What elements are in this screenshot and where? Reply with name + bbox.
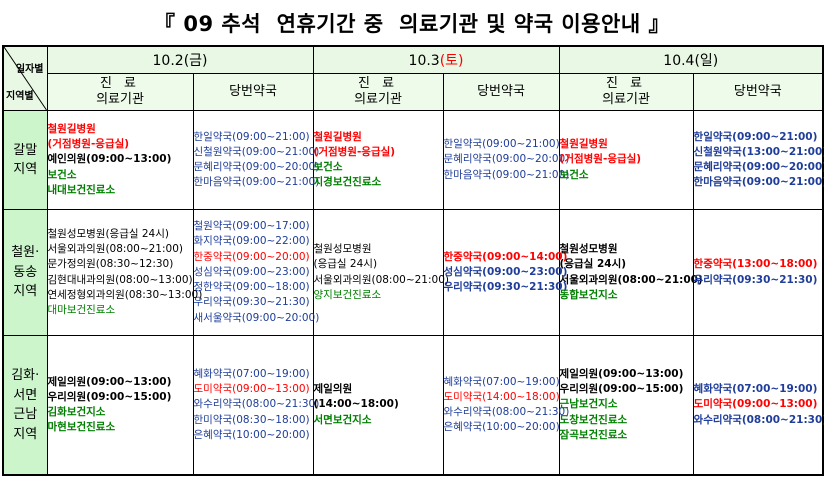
pharmacy-list-cell: 혜화약국(07:00~19:00)도미약국(09:00~13:00)와수리약국(… — [693, 336, 823, 476]
hospital-entry: 내대보건진료소 — [48, 183, 193, 198]
pharmacy-list-cell: 혜화약국(07:00~19:00)도미약국(09:00~13:00)와수리약국(… — [193, 336, 313, 476]
header-hospital-3-line1: 진 료 — [560, 76, 693, 92]
pharmacy-entry: 와수리약국(08:00~21:30) — [694, 413, 823, 428]
pharmacy-entry: 도미약국(09:00~13:00) — [694, 397, 823, 412]
pharmacy-entry: 성심약국(09:00~23:00) — [444, 265, 559, 280]
pharmacy-entry: 한마음약국(09:00~21:00) — [194, 175, 313, 190]
region-label-line: 동송 — [4, 263, 47, 283]
hospital-entry: 마현보건진료소 — [48, 420, 193, 435]
pharmacy-list-cell: 한중약국(09:00~14:00)성심약국(09:00~23:00)우리약국(0… — [443, 210, 559, 336]
table-row: 갈말지역철원길병원(거점병원-응급실)예인의원(09:00~13:00)보건소내… — [3, 111, 823, 210]
hospital-entry: 동합보건지소 — [560, 288, 693, 303]
hospital-list-cell: 철원길병원(거점병원-응급실)예인의원(09:00~13:00)보건소내대보건진… — [47, 111, 193, 210]
pharmacy-entry: 문혜리약국(09:00~20:00) — [194, 160, 313, 175]
pharmacy-entry: 정한약국(09:00~18:00) — [194, 280, 313, 295]
header-row-dates: 일자별 지역별 10.2(금) 10.3(토) 10.4(일) — [3, 46, 823, 74]
header-date-2: 10.3(토) — [313, 46, 559, 74]
schedule-table: 일자별 지역별 10.2(금) 10.3(토) 10.4(일) 진 료 의료기관… — [2, 45, 824, 476]
hospital-entry: 김화보건지소 — [48, 405, 193, 420]
pharmacy-entry: 도미약국(09:00~13:00) — [194, 382, 313, 397]
hospital-list-cell: 철원성모병원(응급실 24시)서울외과의원(08:00~21:00)동합보건지소 — [559, 210, 693, 336]
hospital-list-cell: 철원성모병원(응급실 24시)서울외과의원(08:00~21:00)양지보건진료… — [313, 210, 443, 336]
hospital-list-cell: 철원성모병원(응급실 24시)서울외과의원(08:00~21:00)문가정의원(… — [47, 210, 193, 336]
hospital-list-cell: 철원길병원(거점병원-응급실)보건소 — [559, 111, 693, 210]
hospital-entry: 문가정의원(08:30~12:30) — [48, 257, 193, 272]
region-label-line: 지역 — [4, 425, 47, 445]
table-row: 철원·동송지역철원성모병원(응급실 24시)서울외과의원(08:00~21:00… — [3, 210, 823, 336]
table-body: 갈말지역철원길병원(거점병원-응급실)예인의원(09:00~13:00)보건소내… — [3, 111, 823, 476]
hospital-entry: 서울외과의원(08:00~21:00) — [560, 273, 693, 288]
region-label-line: 철원· — [4, 243, 47, 263]
page-root: 『 09 추석 연휴기간 중 의료기관 및 약국 이용안내 』 일자별 지역별 — [0, 0, 824, 497]
hospital-entry: 우리의원(09:00~15:00) — [560, 382, 693, 397]
header-date-2-prefix: 10.3 — [409, 53, 440, 69]
hospital-entry: 도창보건진료소 — [560, 413, 693, 428]
pharmacy-entry: 한마음약국(09:00~21:00) — [694, 175, 823, 190]
header-hospital-3: 진 료 의료기관 — [559, 74, 693, 111]
pharmacy-entry: 혜화약국(07:00~19:00) — [444, 375, 559, 390]
pharmacy-list-cell: 한일약국(09:00~21:00)신철원약국(09:00~21:00)문혜리약국… — [193, 111, 313, 210]
pharmacy-entry: 혜화약국(07:00~19:00) — [194, 367, 313, 382]
hospital-entry: 제일의원(09:00~13:00) — [560, 367, 693, 382]
hospital-entry: (거점병원-응급실) — [48, 137, 193, 152]
pharmacy-entry: 우리약국(09:30~21:30) — [194, 295, 313, 310]
pharmacy-entry: 한중약국(13:00~18:00) — [694, 257, 823, 272]
pharmacy-entry: 문혜리약국(09:00~20:00) — [694, 160, 823, 175]
pharmacy-entry: 성심약국(09:00~23:00) — [194, 265, 313, 280]
region-label-cell: 철원·동송지역 — [3, 210, 47, 336]
hospital-entry: (응급실 24시) — [560, 257, 693, 272]
pharmacy-entry: 와수리약국(08:00~21:30) — [444, 405, 559, 420]
hospital-list-cell: 제일의원(09:00~13:00)우리의원(09:00~15:00)근남보건지소… — [559, 336, 693, 476]
hospital-entry: 철원길병원 — [48, 122, 193, 137]
hospital-list-cell: 제일의원(09:00~13:00)우리의원(09:00~15:00)김화보건지소… — [47, 336, 193, 476]
header-hospital-1-line2: 의료기관 — [48, 92, 193, 108]
pharmacy-entry: 신철원약국(09:00~21:00) — [194, 145, 313, 160]
region-label-line: 지역 — [4, 282, 47, 302]
hospital-entry: 우리의원(09:00~15:00) — [48, 390, 193, 405]
hospital-entry: 철원성모병원 — [560, 242, 693, 257]
pharmacy-list-cell: 한일약국(09:00~21:00)문혜리약국(09:00~20:00)한마음약국… — [443, 111, 559, 210]
region-label-line: 서면 — [4, 386, 47, 406]
hospital-entry: 근남보건지소 — [560, 397, 693, 412]
pharmacy-entry: 한일약국(09:00~21:00) — [444, 137, 559, 152]
hospital-entry: 연세정형외과의원(08:30~13:00) — [48, 288, 193, 303]
hospital-entry: 서면보건지소 — [314, 413, 443, 428]
hospital-entry: 제일의원(09:00~13:00) — [48, 375, 193, 390]
pharmacy-entry: 은혜약국(10:00~20:00) — [444, 420, 559, 435]
pharmacy-entry: 한중약국(09:00~14:00) — [444, 250, 559, 265]
region-label-cell: 김화·서면근남지역 — [3, 336, 47, 476]
hospital-entry: 보건소 — [48, 168, 193, 183]
hospital-entry: 보건소 — [314, 160, 443, 175]
region-label-cell: 갈말지역 — [3, 111, 47, 210]
pharmacy-entry: 은혜약국(10:00~20:00) — [194, 428, 313, 443]
header-date-2-day: (토) — [440, 53, 464, 69]
table-header: 일자별 지역별 10.2(금) 10.3(토) 10.4(일) 진 료 의료기관… — [3, 46, 823, 111]
region-label-line: 김화· — [4, 366, 47, 386]
hospital-entry: (14:00~18:00) — [314, 397, 443, 412]
pharmacy-entry: 문혜리약국(09:00~20:00) — [444, 152, 559, 167]
pharmacy-entry: 화지약국(09:00~22:00) — [194, 234, 313, 249]
hospital-entry: 철원성모병원 — [314, 242, 443, 257]
pharmacy-list-cell: 한중약국(13:00~18:00)우리약국(09:30~21:30) — [693, 210, 823, 336]
page-title: 『 09 추석 연휴기간 중 의료기관 및 약국 이용안내 』 — [154, 8, 670, 38]
hospital-entry: (거점병원-응급실) — [314, 145, 443, 160]
hospital-entry: (거점병원-응급실) — [560, 152, 693, 167]
pharmacy-list-cell: 한일약국(09:00~21:00)신철원약국(13:00~21:00)문혜리약국… — [693, 111, 823, 210]
pharmacy-entry: 혜화약국(07:00~19:00) — [694, 382, 823, 397]
header-pharmacy-3: 당번약국 — [693, 74, 823, 111]
header-date-1: 10.2(금) — [47, 46, 313, 74]
pharmacy-entry: 새서울약국(09:00~20:00) — [194, 311, 313, 326]
header-hospital-1: 진 료 의료기관 — [47, 74, 193, 111]
table-row: 김화·서면근남지역제일의원(09:00~13:00)우리의원(09:00~15:… — [3, 336, 823, 476]
hospital-entry: 김현대내과의원(08:00~13:00) — [48, 273, 193, 288]
pharmacy-list-cell: 철원약국(09:00~17:00)화지약국(09:00~22:00)한중약국(0… — [193, 210, 313, 336]
pharmacy-entry: 도미약국(14:00~18:00) — [444, 390, 559, 405]
hospital-entry: 대마보건진료소 — [48, 303, 193, 318]
pharmacy-entry: 한일약국(09:00~21:00) — [194, 130, 313, 145]
pharmacy-entry: 한마음약국(09:00~21:00) — [444, 168, 559, 183]
pharmacy-entry: 철원약국(09:00~17:00) — [194, 219, 313, 234]
pharmacy-entry: 신철원약국(13:00~21:00) — [694, 145, 823, 160]
hospital-entry: 철원성모병원(응급실 24시) — [48, 227, 193, 242]
corner-label-date: 일자별 — [16, 65, 44, 75]
header-row-categories: 진 료 의료기관 당번약국 진 료 의료기관 당번약국 진 료 의료기관 당번약… — [3, 74, 823, 111]
hospital-entry: 예인의원(09:00~13:00) — [48, 152, 193, 167]
header-hospital-1-line1: 진 료 — [48, 76, 193, 92]
hospital-entry: 철원길병원 — [314, 130, 443, 145]
header-hospital-2-line2: 의료기관 — [314, 92, 443, 108]
header-date-3: 10.4(일) — [559, 46, 823, 74]
hospital-entry: 잠곡보건진료소 — [560, 428, 693, 443]
pharmacy-entry: 한미약국(08:30~18:00) — [194, 413, 313, 428]
hospital-list-cell: 철원길병원(거점병원-응급실)보건소지경보건진료소 — [313, 111, 443, 210]
header-hospital-3-line2: 의료기관 — [560, 92, 693, 108]
header-hospital-2-line1: 진 료 — [314, 76, 443, 92]
hospital-entry: (응급실 24시) — [314, 257, 443, 272]
pharmacy-entry: 한일약국(09:00~21:00) — [694, 130, 823, 145]
corner-label-region: 지역별 — [6, 92, 34, 102]
title-bar: 『 09 추석 연휴기간 중 의료기관 및 약국 이용안내 』 — [0, 0, 824, 45]
hospital-entry: 서울외과의원(08:00~21:00) — [314, 273, 443, 288]
region-label-line: 지역 — [4, 160, 47, 180]
hospital-entry: 보건소 — [560, 168, 693, 183]
pharmacy-entry: 우리약국(09:30~21:30) — [694, 273, 823, 288]
header-hospital-2: 진 료 의료기관 — [313, 74, 443, 111]
pharmacy-entry: 와수리약국(08:00~21:30) — [194, 397, 313, 412]
hospital-entry: 양지보건진료소 — [314, 288, 443, 303]
hospital-entry: 지경보건진료소 — [314, 175, 443, 190]
pharmacy-entry: 우리약국(09:30~21:30) — [444, 280, 559, 295]
hospital-list-cell: 제일의원(14:00~18:00)서면보건지소 — [313, 336, 443, 476]
region-label-line: 근남 — [4, 405, 47, 425]
hospital-entry: 서울외과의원(08:00~21:00) — [48, 242, 193, 257]
corner-axis-cell: 일자별 지역별 — [3, 46, 47, 111]
region-label-line: 갈말 — [4, 141, 47, 161]
hospital-entry: 제일의원 — [314, 382, 443, 397]
pharmacy-entry: 한중약국(09:00~20:00) — [194, 250, 313, 265]
header-pharmacy-2: 당번약국 — [443, 74, 559, 111]
header-pharmacy-1: 당번약국 — [193, 74, 313, 111]
hospital-entry: 철원길병원 — [560, 137, 693, 152]
pharmacy-list-cell: 혜화약국(07:00~19:00)도미약국(14:00~18:00)와수리약국(… — [443, 336, 559, 476]
